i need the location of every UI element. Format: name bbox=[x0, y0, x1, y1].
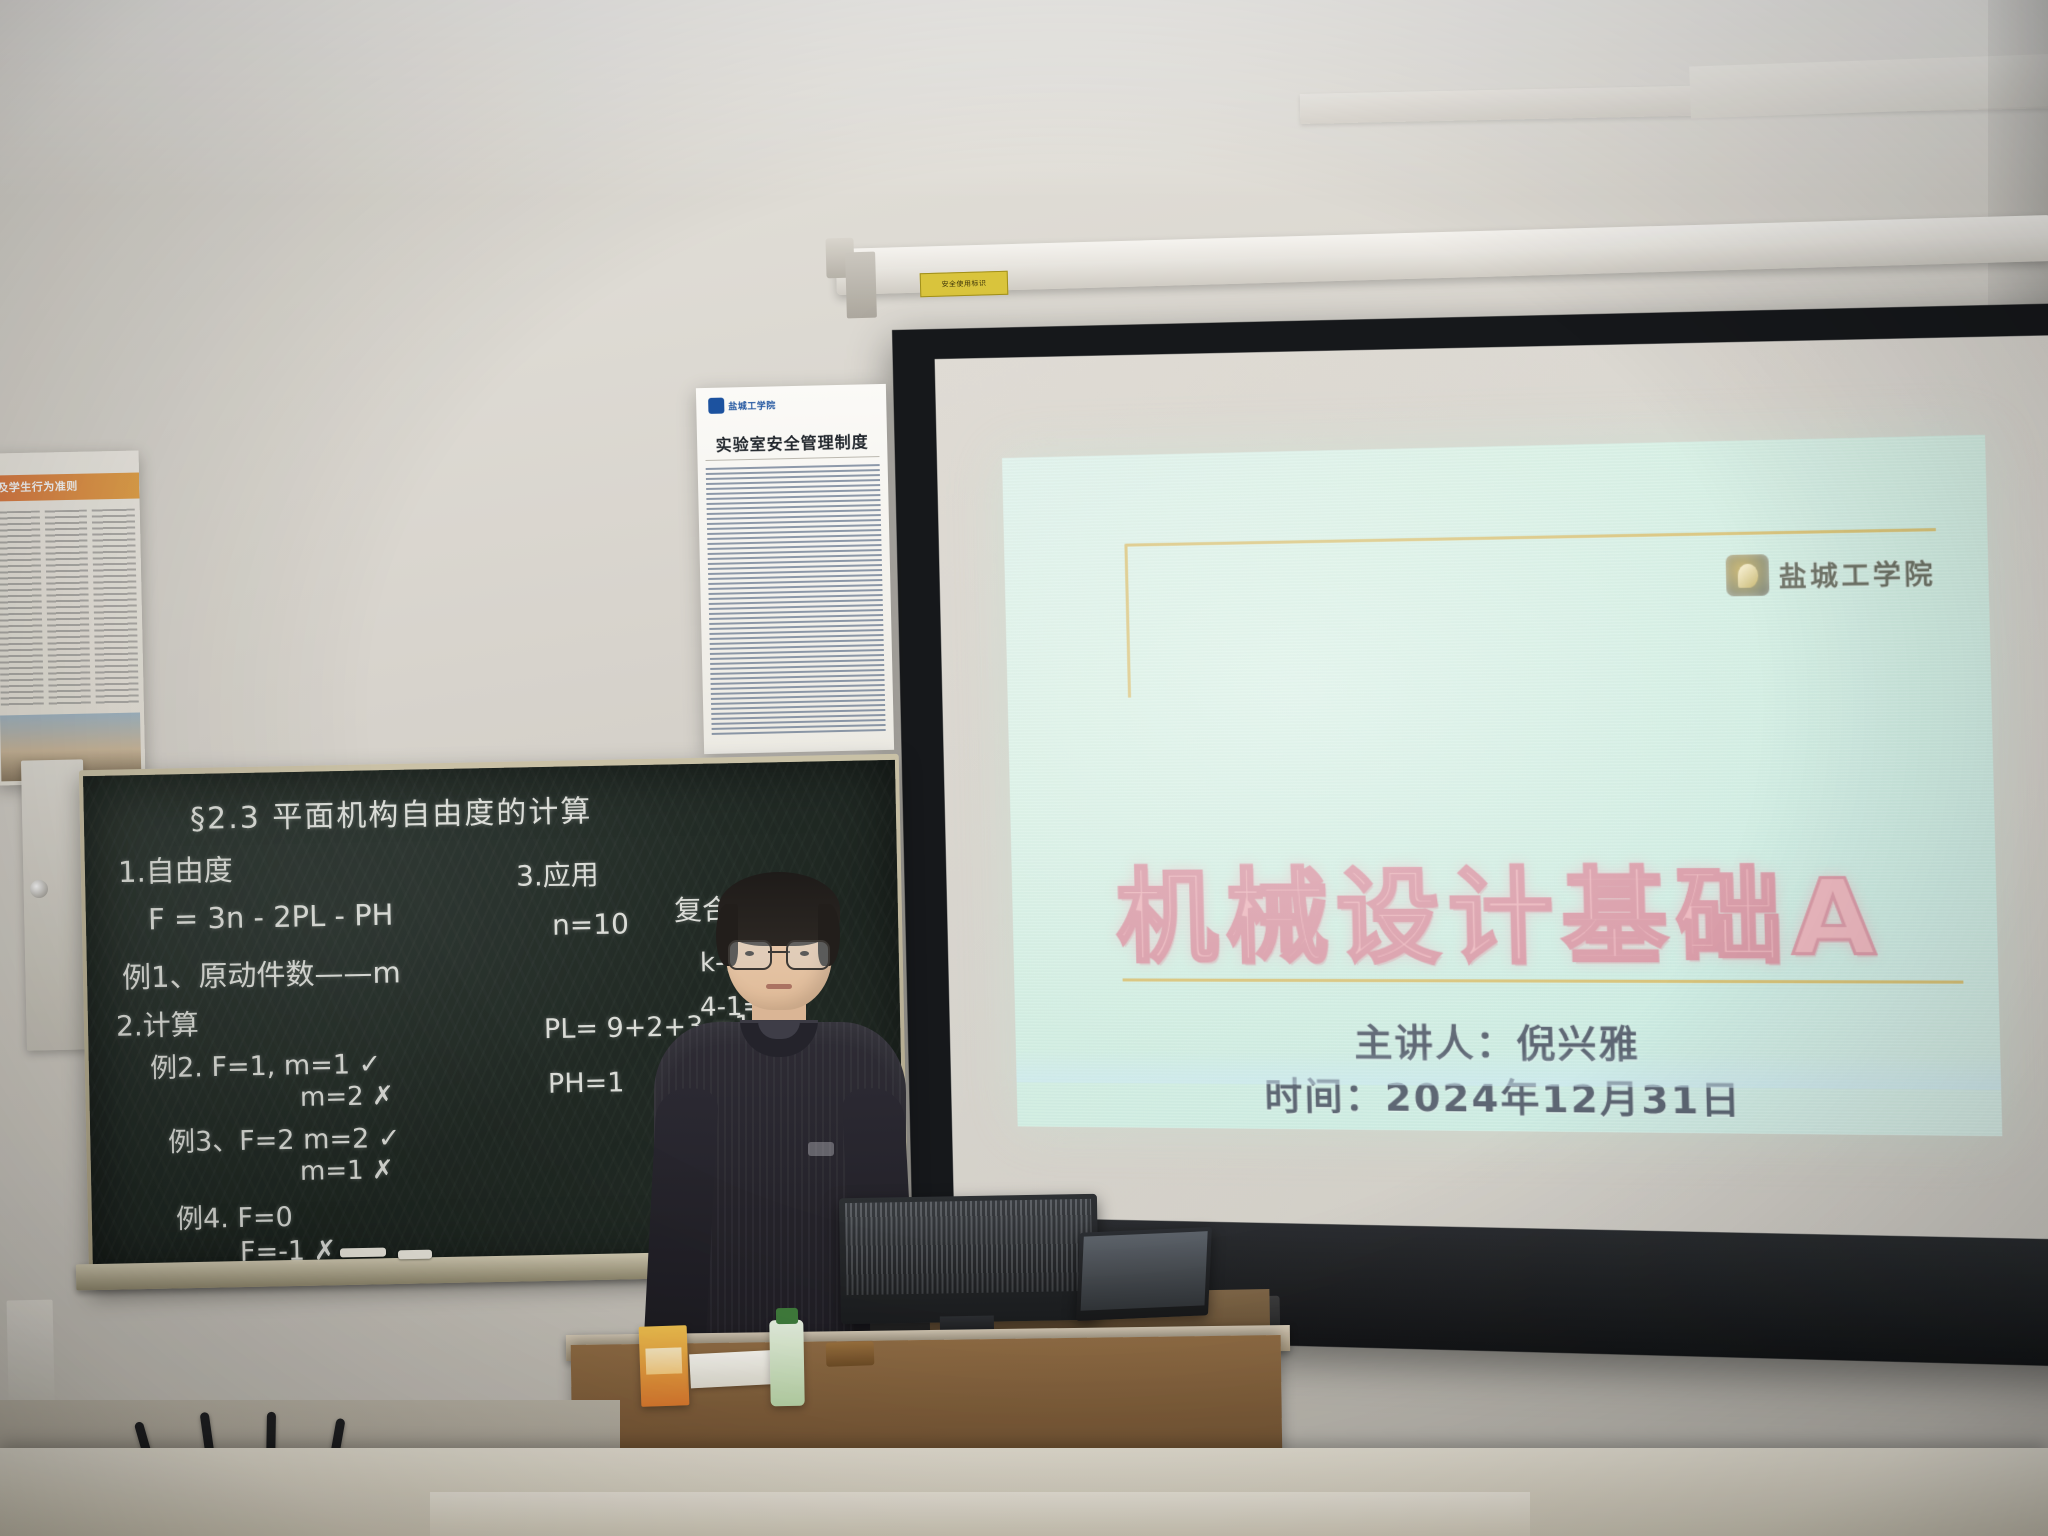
poster-col-1 bbox=[0, 511, 44, 708]
glasses-icon bbox=[728, 940, 830, 966]
panel-knob-icon[interactable] bbox=[30, 880, 48, 898]
classroom-scene: 安全使用标识 盐城工学院 机械设计基础A 主讲人：倪兴雅 时间：2024年12月… bbox=[0, 0, 2048, 1536]
poster-institution-logo: 盐城工学院 bbox=[708, 396, 776, 414]
juice-carton[interactable] bbox=[639, 1325, 690, 1407]
blackboard-line: F=-1 ✗ bbox=[240, 1235, 337, 1268]
glasses-lens-right bbox=[786, 940, 830, 970]
blackboard-line: 1.自由度 bbox=[118, 847, 233, 891]
blackboard-line: m=1 ✗ bbox=[300, 1155, 394, 1187]
glasses-lens-left bbox=[728, 940, 772, 970]
poster-logo-text: 盐城工学院 bbox=[728, 398, 776, 412]
poster-body-text bbox=[706, 464, 886, 736]
safety-sticker-text: 安全使用标识 bbox=[941, 279, 986, 288]
teaching-laptop[interactable] bbox=[1076, 1227, 1212, 1321]
institution-emblem-icon bbox=[1726, 554, 1770, 596]
safety-sticker: 安全使用标识 bbox=[920, 271, 1009, 297]
blackboard-line: 例1、原动件数——m bbox=[122, 949, 401, 996]
monitor-screen bbox=[845, 1199, 1093, 1295]
slide-institution-logo: 盐城工学院 bbox=[1726, 551, 1937, 596]
water-bottle[interactable] bbox=[769, 1320, 804, 1407]
poster-col-3 bbox=[92, 509, 139, 706]
institution-name: 盐城工学院 bbox=[1778, 553, 1936, 594]
blackboard-line: 3.应用 bbox=[516, 853, 599, 895]
institution-badge-icon bbox=[708, 398, 724, 414]
poster-left-text-columns bbox=[0, 509, 139, 708]
front-row-desk-top bbox=[430, 1492, 1530, 1536]
papers-on-desk[interactable] bbox=[689, 1350, 783, 1389]
desktop-monitor[interactable] bbox=[839, 1194, 1099, 1324]
poster-student-code-of-conduct: 及学生行为准则 bbox=[0, 450, 145, 785]
projected-slide: 盐城工学院 机械设计基础A 主讲人：倪兴雅 时间：2024年12月31日 bbox=[1002, 435, 2002, 1136]
blackboard-line: 例3、F=2 m=2 ✓ bbox=[168, 1116, 401, 1159]
blackboard-line: 例2. F=1, m=1 ✓ bbox=[150, 1042, 382, 1085]
poster-divider bbox=[706, 456, 880, 461]
poster-title: 实验室安全管理制度 bbox=[697, 428, 887, 456]
blackboard-line: 2.计算 bbox=[116, 1003, 199, 1045]
poster-left-header-text: 及学生行为准则 bbox=[0, 480, 78, 495]
blackboard-line: F = 3n - 2PL - PH bbox=[148, 898, 394, 937]
slide-title: 机械设计基础A bbox=[1011, 832, 1999, 984]
lecturer-mouth bbox=[766, 984, 792, 989]
blackboard-line: m=2 ✗ bbox=[300, 1081, 394, 1113]
laptop-screen bbox=[1081, 1231, 1208, 1311]
poster-lab-safety-rules: 盐城工学院 实验室安全管理制度 bbox=[696, 384, 894, 754]
blackboard-heading: §2.3 平面机构自由度的计算 bbox=[190, 786, 593, 838]
chalk-stick[interactable] bbox=[398, 1250, 432, 1260]
wall-corner-shadow bbox=[1988, 0, 2048, 330]
bottle-cap-icon bbox=[776, 1308, 798, 1324]
poster-left-header: 及学生行为准则 bbox=[0, 472, 140, 501]
small-box[interactable] bbox=[826, 1341, 875, 1367]
blackboard-line: n=10 bbox=[552, 907, 629, 941]
chalk-stick[interactable] bbox=[340, 1248, 386, 1258]
blackboard-line: PH=1 bbox=[548, 1067, 625, 1099]
screen-mount-bracket bbox=[845, 252, 877, 319]
sweater-logo-icon bbox=[808, 1142, 834, 1156]
blackboard-line: 例4. F=0 bbox=[176, 1195, 293, 1236]
poster-col-2 bbox=[44, 510, 91, 707]
